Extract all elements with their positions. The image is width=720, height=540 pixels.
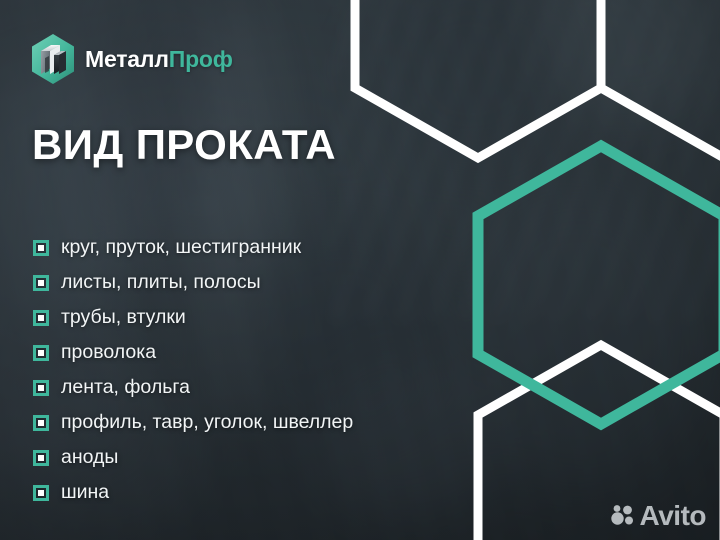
list-item: профиль, тавр, уголок, швеллер: [33, 405, 353, 440]
list-item-label: листы, плиты, полосы: [61, 273, 261, 293]
list-item: проволока: [33, 335, 353, 370]
hexagon-cube-icon: [30, 33, 76, 85]
list-item: лента, фольга: [33, 370, 353, 405]
rolled-metal-types-list: круг, пруток, шестигранник листы, плиты,…: [33, 230, 353, 510]
avito-dots-icon: [610, 503, 636, 529]
page-title: ВИД ПРОКАТА: [32, 124, 336, 166]
hexagon-outline-top-left: [355, 0, 601, 158]
square-bullet-icon: [33, 345, 49, 361]
brand-name: МеталлПроф: [85, 48, 233, 71]
square-bullet-icon: [33, 450, 49, 466]
list-item: круг, пруток, шестигранник: [33, 230, 353, 265]
brand-logo[interactable]: МеталлПроф: [30, 33, 233, 85]
list-item-label: лента, фольга: [61, 378, 190, 398]
avito-watermark: Avito: [610, 502, 706, 530]
promo-banner: МеталлПроф ВИД ПРОКАТА круг, пруток, шес…: [0, 0, 720, 540]
list-item-label: круг, пруток, шестигранник: [61, 238, 301, 258]
hexagon-outline-top-right: [601, 0, 720, 158]
list-item-label: шина: [61, 483, 109, 503]
avito-label: Avito: [640, 502, 706, 530]
list-item: трубы, втулки: [33, 300, 353, 335]
list-item-label: проволока: [61, 343, 156, 363]
square-bullet-icon: [33, 485, 49, 501]
square-bullet-icon: [33, 310, 49, 326]
list-item: аноды: [33, 440, 353, 475]
list-item-label: трубы, втулки: [61, 308, 186, 328]
square-bullet-icon: [33, 275, 49, 291]
list-item: шина: [33, 475, 353, 510]
square-bullet-icon: [33, 240, 49, 256]
list-item-label: аноды: [61, 448, 118, 468]
brand-name-accent: Проф: [169, 46, 233, 72]
list-item-label: профиль, тавр, уголок, швеллер: [61, 413, 353, 433]
square-bullet-icon: [33, 380, 49, 396]
square-bullet-icon: [33, 415, 49, 431]
hexagon-accent-outline: [478, 146, 720, 424]
list-item: листы, плиты, полосы: [33, 265, 353, 300]
brand-name-primary: Металл: [85, 46, 169, 72]
